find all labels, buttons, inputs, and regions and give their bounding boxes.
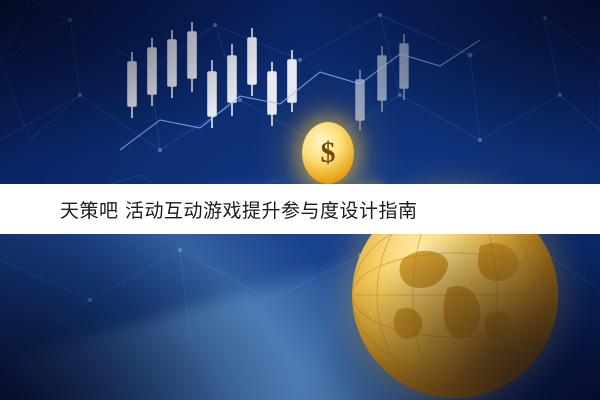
dollar-coin: $ [302,122,354,184]
banner-title: 天策吧 活动互动游戏提升参与度设计指南 [0,196,418,223]
banner-image: $ $ 天策吧 活动互动游戏提升参与度设计指南 [0,0,600,400]
title-band: 天策吧 活动互动游戏提升参与度设计指南 [0,184,600,234]
